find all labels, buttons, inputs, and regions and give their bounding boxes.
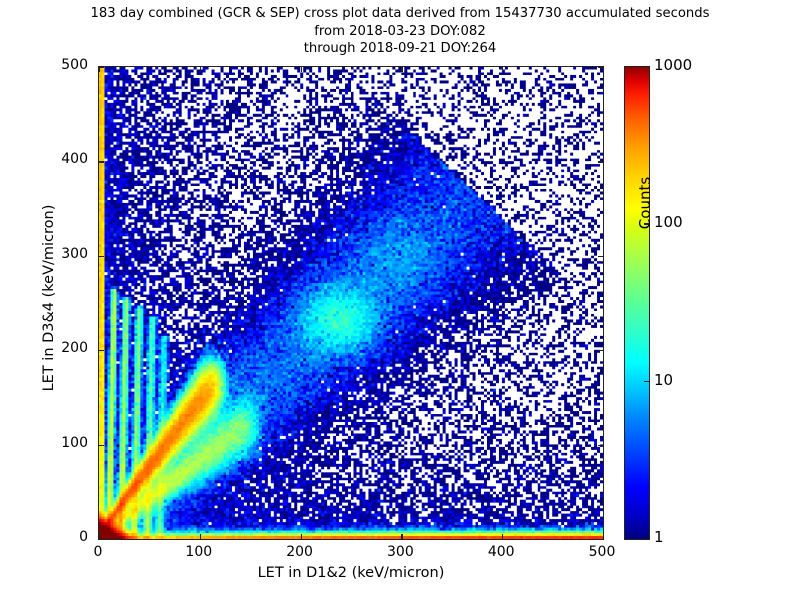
colorbar-label: Counts bbox=[636, 103, 654, 303]
y-tick-mark-right bbox=[598, 256, 603, 257]
plot-area bbox=[98, 66, 604, 540]
y-tick-mark bbox=[99, 539, 104, 540]
x-tick-mark bbox=[200, 534, 201, 539]
y-tick-mark bbox=[99, 256, 104, 257]
chart-title: 183 day combined (GCR & SEP) cross plot … bbox=[0, 5, 800, 58]
y-tick-label: 100 bbox=[28, 435, 88, 451]
y-tick-mark bbox=[99, 67, 104, 68]
y-tick-label: 0 bbox=[28, 529, 88, 545]
x-tick-label: 200 bbox=[270, 544, 330, 560]
colorbar-tick-label: 10 bbox=[654, 371, 673, 389]
x-tick-label: 400 bbox=[471, 544, 531, 560]
chart-title-line-1: 183 day combined (GCR & SEP) cross plot … bbox=[0, 5, 800, 23]
colorbar-tick-label: 1 bbox=[654, 528, 664, 546]
y-tick-mark-right bbox=[598, 161, 603, 162]
y-tick-mark bbox=[99, 350, 104, 351]
x-tick-mark bbox=[301, 534, 302, 539]
colorbar-tick-mark bbox=[644, 381, 649, 382]
figure-canvas: 183 day combined (GCR & SEP) cross plot … bbox=[0, 0, 800, 600]
x-tick-mark-top bbox=[401, 67, 402, 72]
x-tick-mark-top bbox=[301, 67, 302, 72]
x-tick-label: 0 bbox=[68, 544, 128, 560]
y-tick-mark bbox=[99, 445, 104, 446]
y-tick-label: 400 bbox=[28, 151, 88, 167]
y-tick-mark-right bbox=[598, 539, 603, 540]
colorbar-tick-label: 100 bbox=[654, 213, 683, 231]
heatmap-scatter-layer bbox=[99, 67, 603, 539]
y-tick-mark bbox=[99, 161, 104, 162]
y-tick-mark-right bbox=[598, 445, 603, 446]
y-tick-label: 300 bbox=[28, 246, 88, 262]
x-axis-label: LET in D1&2 (keV/micron) bbox=[98, 565, 604, 581]
y-tick-mark-right bbox=[598, 350, 603, 351]
colorbar-tick-label: 1000 bbox=[654, 56, 692, 74]
y-tick-label: 200 bbox=[28, 340, 88, 356]
y-tick-label: 500 bbox=[28, 57, 88, 73]
chart-title-line-3: through 2018-09-21 DOY:264 bbox=[0, 40, 800, 58]
y-tick-mark-right bbox=[598, 67, 603, 68]
x-tick-label: 100 bbox=[169, 544, 229, 560]
x-tick-mark bbox=[603, 534, 604, 539]
x-tick-mark bbox=[401, 534, 402, 539]
x-tick-mark-top bbox=[200, 67, 201, 72]
chart-title-line-2: from 2018-03-23 DOY:082 bbox=[0, 23, 800, 41]
x-tick-mark-top bbox=[502, 67, 503, 72]
x-tick-label: 300 bbox=[370, 544, 430, 560]
x-tick-mark-top bbox=[603, 67, 604, 72]
x-tick-label: 500 bbox=[572, 544, 632, 560]
y-axis-label: LET in D3&4 (keV/micron) bbox=[41, 61, 57, 535]
x-tick-mark bbox=[502, 534, 503, 539]
